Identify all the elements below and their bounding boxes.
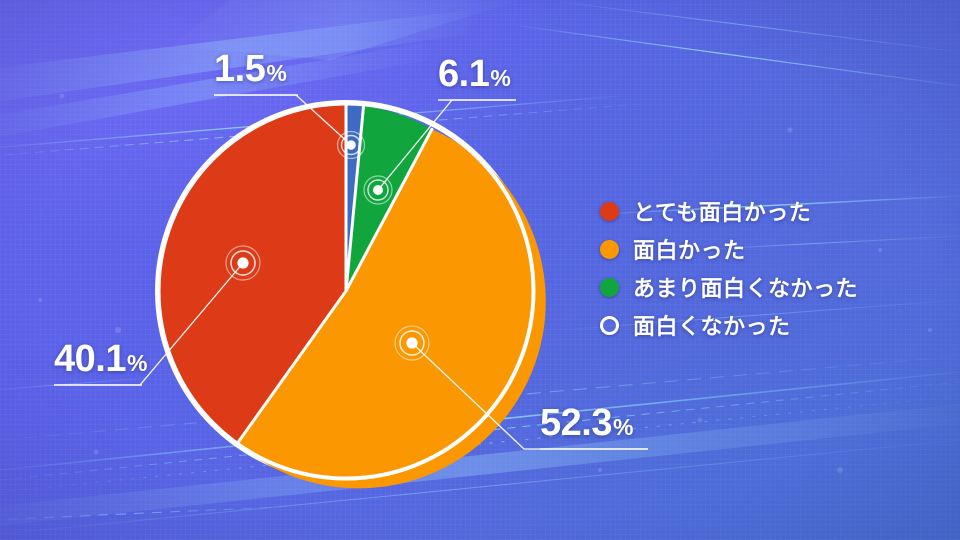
slide-canvas: 1.5% 6.1% 40.1% 52.3% とても面白かった 面白かった あまり… [0, 0, 960, 540]
vignette-overlay [0, 0, 960, 540]
